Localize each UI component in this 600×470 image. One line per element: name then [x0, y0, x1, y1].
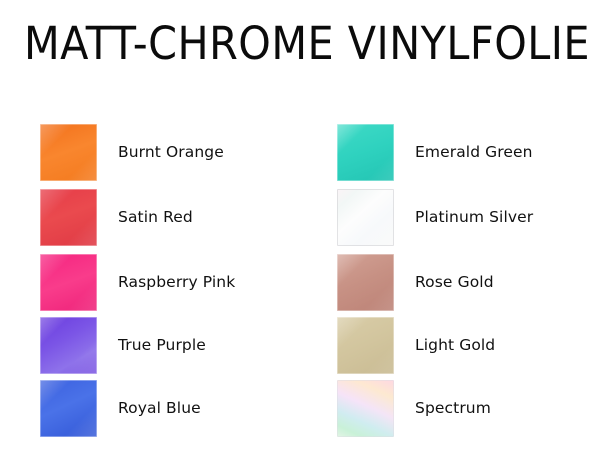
swatch-label: Raspberry Pink	[118, 273, 235, 292]
color-swatch[interactable]	[337, 189, 394, 246]
color-swatch[interactable]	[337, 380, 394, 437]
swatch-item-satin-red[interactable]: Satin Red	[40, 189, 330, 246]
color-swatch[interactable]	[40, 124, 97, 181]
color-swatch[interactable]	[40, 380, 97, 437]
left-column: Burnt Orange Satin Red Raspberry Pink Tr…	[40, 110, 330, 460]
swatch-label: True Purple	[118, 336, 206, 355]
swatch-label: Light Gold	[415, 336, 495, 355]
right-column: Emerald Green Platinum Silver Rose Gold …	[337, 110, 600, 460]
swatch-label: Rose Gold	[415, 273, 494, 292]
swatch-label: Emerald Green	[415, 143, 533, 162]
swatch-item-rose-gold[interactable]: Rose Gold	[337, 254, 600, 311]
swatch-label: Spectrum	[415, 399, 491, 418]
swatch-item-emerald-green[interactable]: Emerald Green	[337, 124, 600, 181]
swatch-label: Royal Blue	[118, 399, 201, 418]
swatch-item-platinum-silver[interactable]: Platinum Silver	[337, 189, 600, 246]
swatch-item-burnt-orange[interactable]: Burnt Orange	[40, 124, 330, 181]
color-swatch[interactable]	[40, 317, 97, 374]
swatch-item-raspberry-pink[interactable]: Raspberry Pink	[40, 254, 330, 311]
swatch-label: Satin Red	[118, 208, 193, 227]
color-swatch[interactable]	[40, 254, 97, 311]
swatch-item-light-gold[interactable]: Light Gold	[337, 317, 600, 374]
color-swatch[interactable]	[337, 254, 394, 311]
swatch-label: Platinum Silver	[415, 208, 533, 227]
color-chart-page: MATT-CHROME VINYLFOLIE Burnt Orange Sati…	[0, 0, 600, 470]
swatch-grid: Burnt Orange Satin Red Raspberry Pink Tr…	[0, 110, 600, 460]
swatch-item-true-purple[interactable]: True Purple	[40, 317, 330, 374]
color-swatch[interactable]	[337, 124, 394, 181]
swatch-item-spectrum[interactable]: Spectrum	[337, 380, 600, 437]
page-title: MATT-CHROME VINYLFOLIE	[24, 18, 576, 70]
swatch-item-royal-blue[interactable]: Royal Blue	[40, 380, 330, 437]
color-swatch[interactable]	[40, 189, 97, 246]
swatch-label: Burnt Orange	[118, 143, 224, 162]
color-swatch[interactable]	[337, 317, 394, 374]
